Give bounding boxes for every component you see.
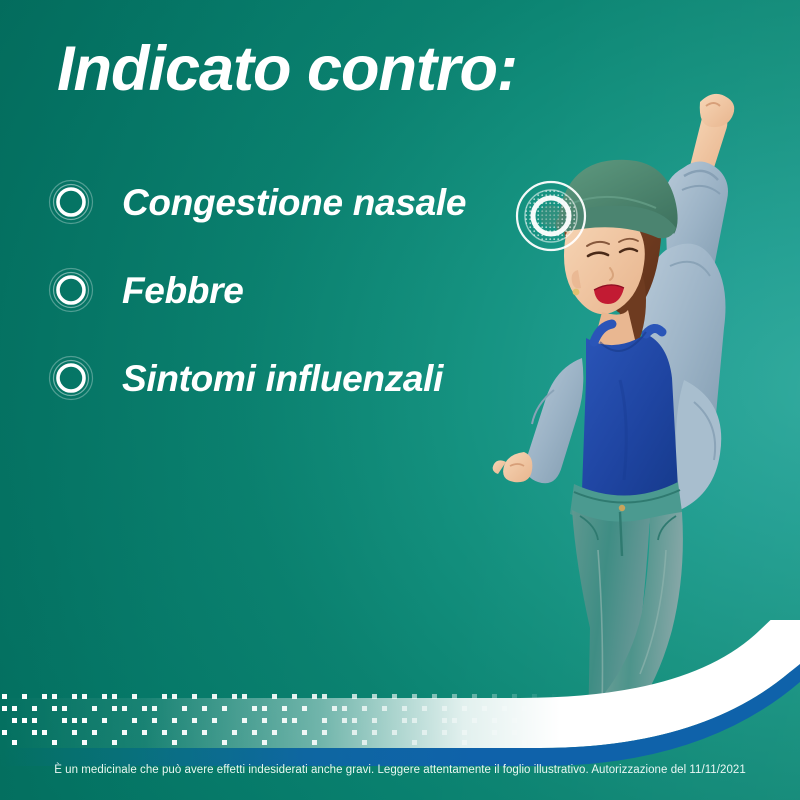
benefit-list: Congestione nasale Febbre Sintomi in [48, 175, 568, 439]
legal-disclaimer: È un medicinale che può avere effetti in… [0, 764, 800, 778]
list-item-label: Febbre [122, 272, 244, 309]
concentric-rings-icon [48, 355, 94, 401]
list-item: Sintomi influenzali [48, 351, 568, 405]
list-item-label: Congestione nasale [122, 184, 466, 221]
halftone-dot-pattern [0, 692, 560, 748]
list-item: Febbre [48, 263, 568, 317]
promo-banner: Indicato contro: Congestione nasale [0, 0, 800, 800]
list-item-label: Sintomi influenzali [122, 360, 443, 397]
list-item: Congestione nasale [48, 175, 568, 229]
concentric-rings-icon [48, 267, 94, 313]
page-title: Indicato contro: [57, 38, 517, 101]
concentric-rings-icon [48, 179, 94, 225]
